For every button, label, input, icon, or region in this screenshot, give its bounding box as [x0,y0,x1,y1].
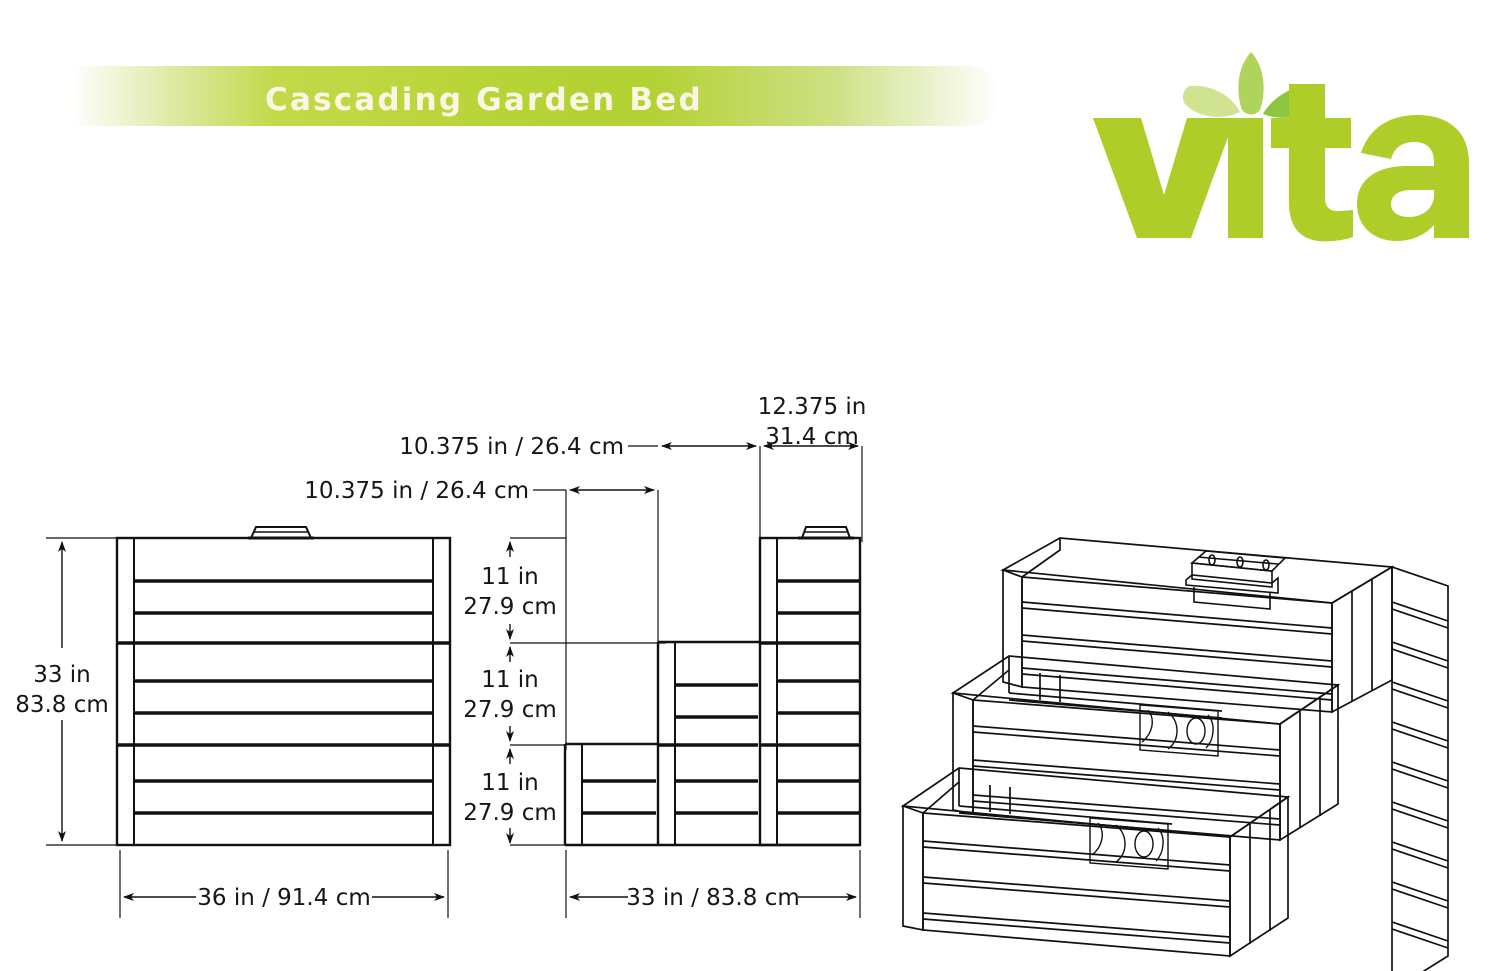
dim-tier-mid-cm: 27.9 cm [463,697,557,723]
dim-depth-lower: 10.375 in / 26.4 cm [304,478,529,504]
isometric-3d-view [903,538,1448,971]
front-elevation-view [117,527,450,845]
vent-cap-icon [248,527,314,538]
vent-cap-icon-side [798,527,854,538]
dim-side-depth: 33 in / 83.8 cm [626,885,800,911]
dim-tier-bot-in: 11 in [481,770,539,796]
side-elevation-view [565,527,860,845]
dim-rear-depth-cm: 31.4 cm [765,424,859,450]
dim-front-width: 36 in / 91.4 cm [197,885,371,911]
vent-cap-3d-icon [1186,551,1285,609]
leaf-center-icon [1238,52,1263,115]
dim-tier-mid-in: 11 in [481,667,539,693]
dim-height-cm: 83.8 cm [15,692,109,718]
dim-tier-top-in: 11 in [481,564,539,590]
dim-height-in: 33 in [33,662,91,688]
technical-drawing: 33 in 83.8 cm 36 in / 91.4 cm 33 in / 83… [0,250,1500,971]
dimension-text-labels: 33 in 83.8 cm 36 in / 91.4 cm 33 in / 83… [15,394,866,911]
page-root: Cascading Garden Bed [0,0,1500,971]
dim-rear-depth-in: 12.375 in [758,394,867,420]
dim-depth-upper: 10.375 in / 26.4 cm [399,434,624,460]
leaf-left-icon [1183,86,1240,117]
page-title: Cascading Garden Bed [265,77,1005,123]
dim-tier-top-cm: 27.9 cm [463,594,557,620]
vita-logo [1085,22,1475,247]
dim-tier-bot-cm: 27.9 cm [463,800,557,826]
